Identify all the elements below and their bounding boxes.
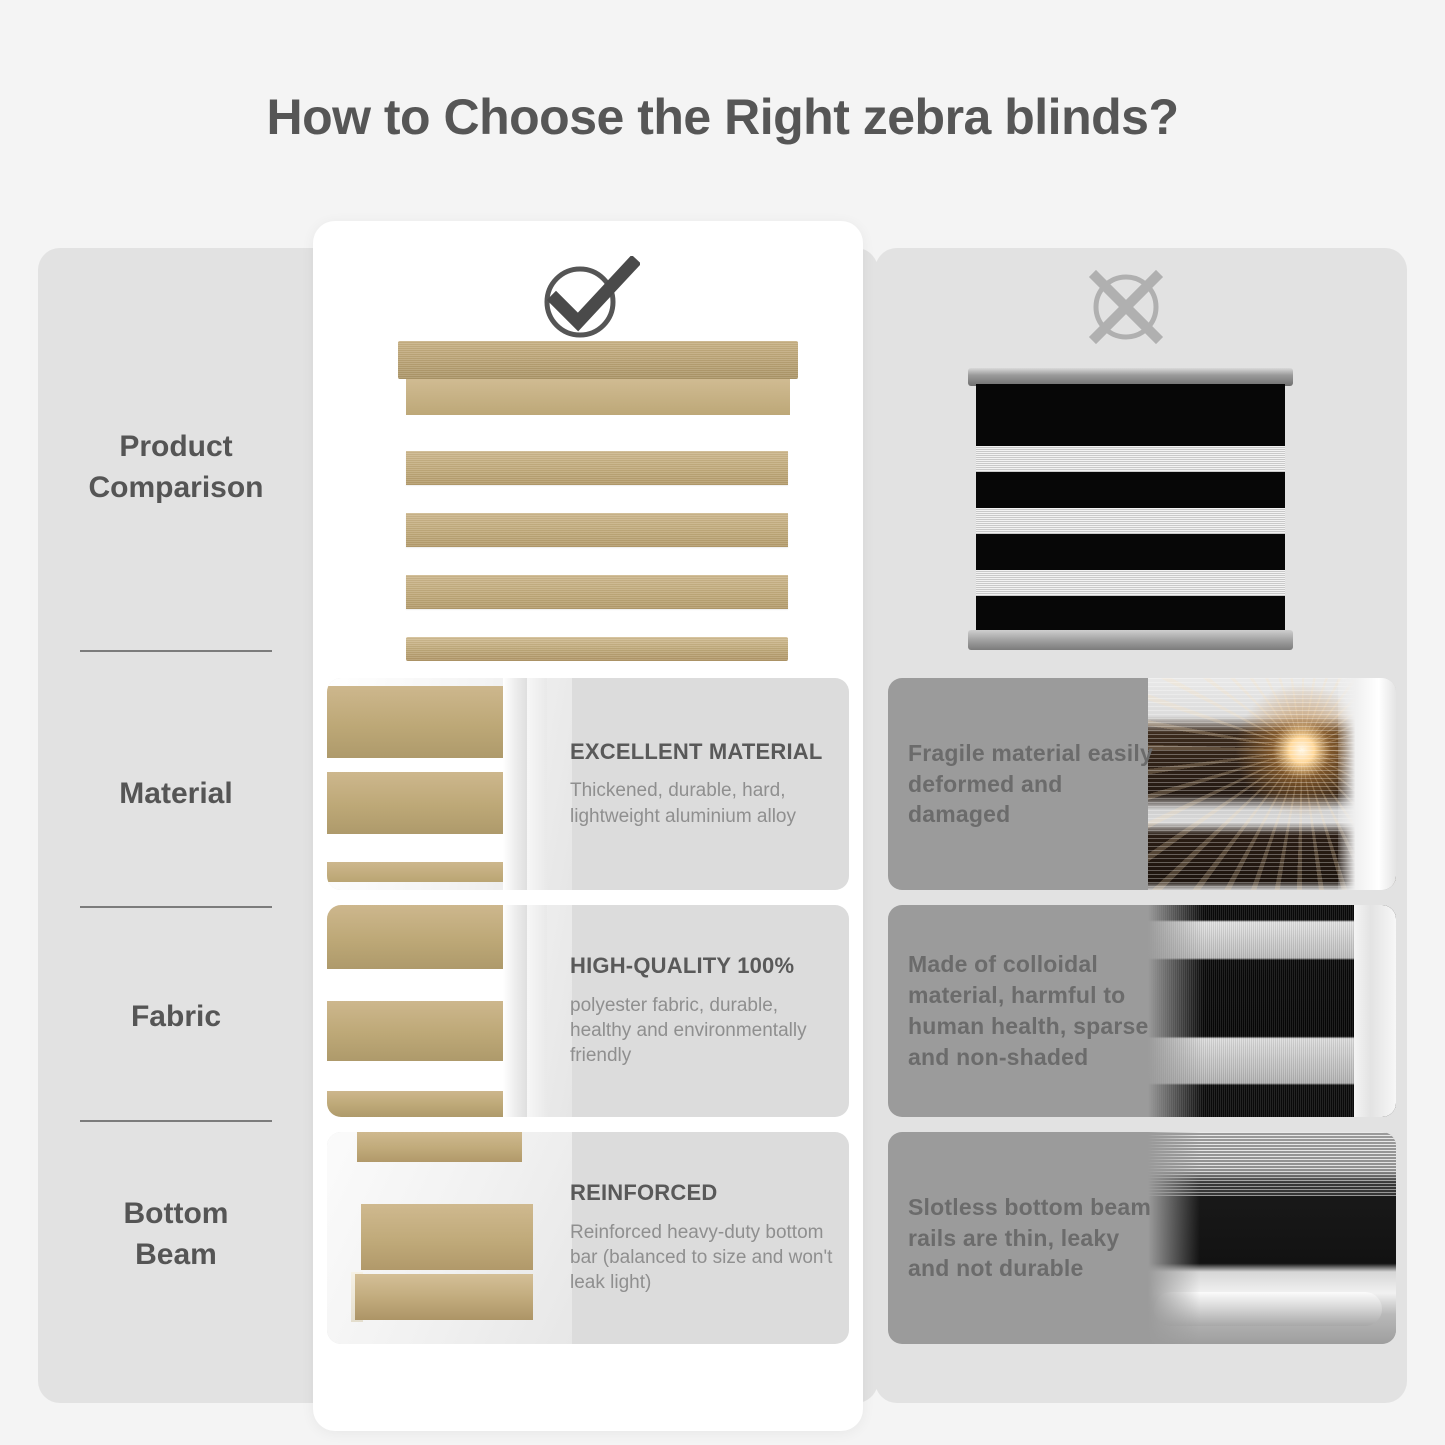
beam-slat xyxy=(361,1204,533,1270)
black-bottom-rail-photo xyxy=(1148,1132,1396,1344)
good-feature-body: polyester fabric, durable, healthy and e… xyxy=(570,993,838,1069)
good-feature-card-material: EXCELLENT MATERIAL Thickened, durable, h… xyxy=(327,678,849,890)
row-divider-3 xyxy=(80,1120,272,1122)
blind-slat xyxy=(406,451,788,485)
blind-fabric xyxy=(976,384,1285,634)
blind-slat xyxy=(406,513,788,547)
black-blind-fabric-photo xyxy=(1148,905,1396,1117)
blind-sheer-stripe xyxy=(976,446,1285,472)
good-feature-heading: HIGH-QUALITY 100% xyxy=(570,953,838,978)
sunburst-light-leak-photo xyxy=(1148,678,1396,890)
bad-feature-card-material: Fragile material easily deformed and dam… xyxy=(888,678,1396,890)
beige-blind-fabric-photo xyxy=(327,905,572,1117)
row-label-line-1: Bottom xyxy=(38,1193,314,1234)
row-divider-1 xyxy=(80,650,272,652)
beige-blind-window-frame-photo xyxy=(327,678,572,890)
blind-bottom-rail xyxy=(968,630,1293,650)
row-label-line-2: Beam xyxy=(38,1234,314,1275)
row-label-material: Material xyxy=(38,773,314,814)
good-feature-card-fabric: HIGH-QUALITY 100% polyester fabric, dura… xyxy=(327,905,849,1117)
page-title: How to Choose the Right zebra blinds? xyxy=(0,88,1445,146)
hero-beige-zebra-blind xyxy=(398,341,798,671)
good-feature-body: Reinforced heavy-duty bottom bar (balanc… xyxy=(570,1220,838,1296)
beam-slat xyxy=(357,1132,522,1162)
good-feature-card-bottom-beam: REINFORCED Reinforced heavy-duty bottom … xyxy=(327,1132,849,1344)
bad-feature-heading: Slotless bottom beam rails are thin, lea… xyxy=(908,1192,1158,1284)
infographic-page: How to Choose the Right zebra blinds? Pr… xyxy=(0,0,1445,1445)
good-feature-heading: REINFORCED xyxy=(570,1180,838,1205)
blind-headrail xyxy=(398,341,798,379)
bad-feature-card-fabric: Made of colloidal material, harmful to h… xyxy=(888,905,1396,1117)
blind-closeup xyxy=(327,905,505,1117)
row-divider-2 xyxy=(80,906,272,908)
reinforced-bottom-bar xyxy=(355,1274,533,1320)
row-label-column: Product Comparison Material Fabric Botto… xyxy=(38,248,314,1403)
bad-feature-card-bottom-beam: Slotless bottom beam rails are thin, lea… xyxy=(888,1132,1396,1344)
good-feature-heading: EXCELLENT MATERIAL xyxy=(570,739,838,764)
bad-feature-heading: Fragile material easily deformed and dam… xyxy=(908,738,1158,830)
blind-bottom-bar xyxy=(406,637,788,661)
blind-sheer-stripe xyxy=(976,570,1285,596)
row-label-fabric: Fabric xyxy=(38,996,314,1037)
cross-circle-icon xyxy=(1083,268,1169,346)
row-label-product-comparison: Product Comparison xyxy=(38,426,314,509)
row-label-line-1: Product xyxy=(38,426,314,467)
blind-slat xyxy=(406,575,788,609)
check-circle-icon xyxy=(536,256,640,342)
blind-sheer-stripe xyxy=(976,508,1285,534)
hero-black-zebra-blind xyxy=(968,368,1293,648)
row-label-line-2: Comparison xyxy=(38,467,314,508)
row-label-bottom-beam: Bottom Beam xyxy=(38,1193,314,1276)
blind-closeup xyxy=(327,686,505,882)
bad-feature-heading: Made of colloidal material, harmful to h… xyxy=(908,949,1158,1072)
good-feature-body: Thickened, durable, hard, lightweight al… xyxy=(570,778,838,829)
beige-bottom-beam-photo xyxy=(327,1132,572,1344)
